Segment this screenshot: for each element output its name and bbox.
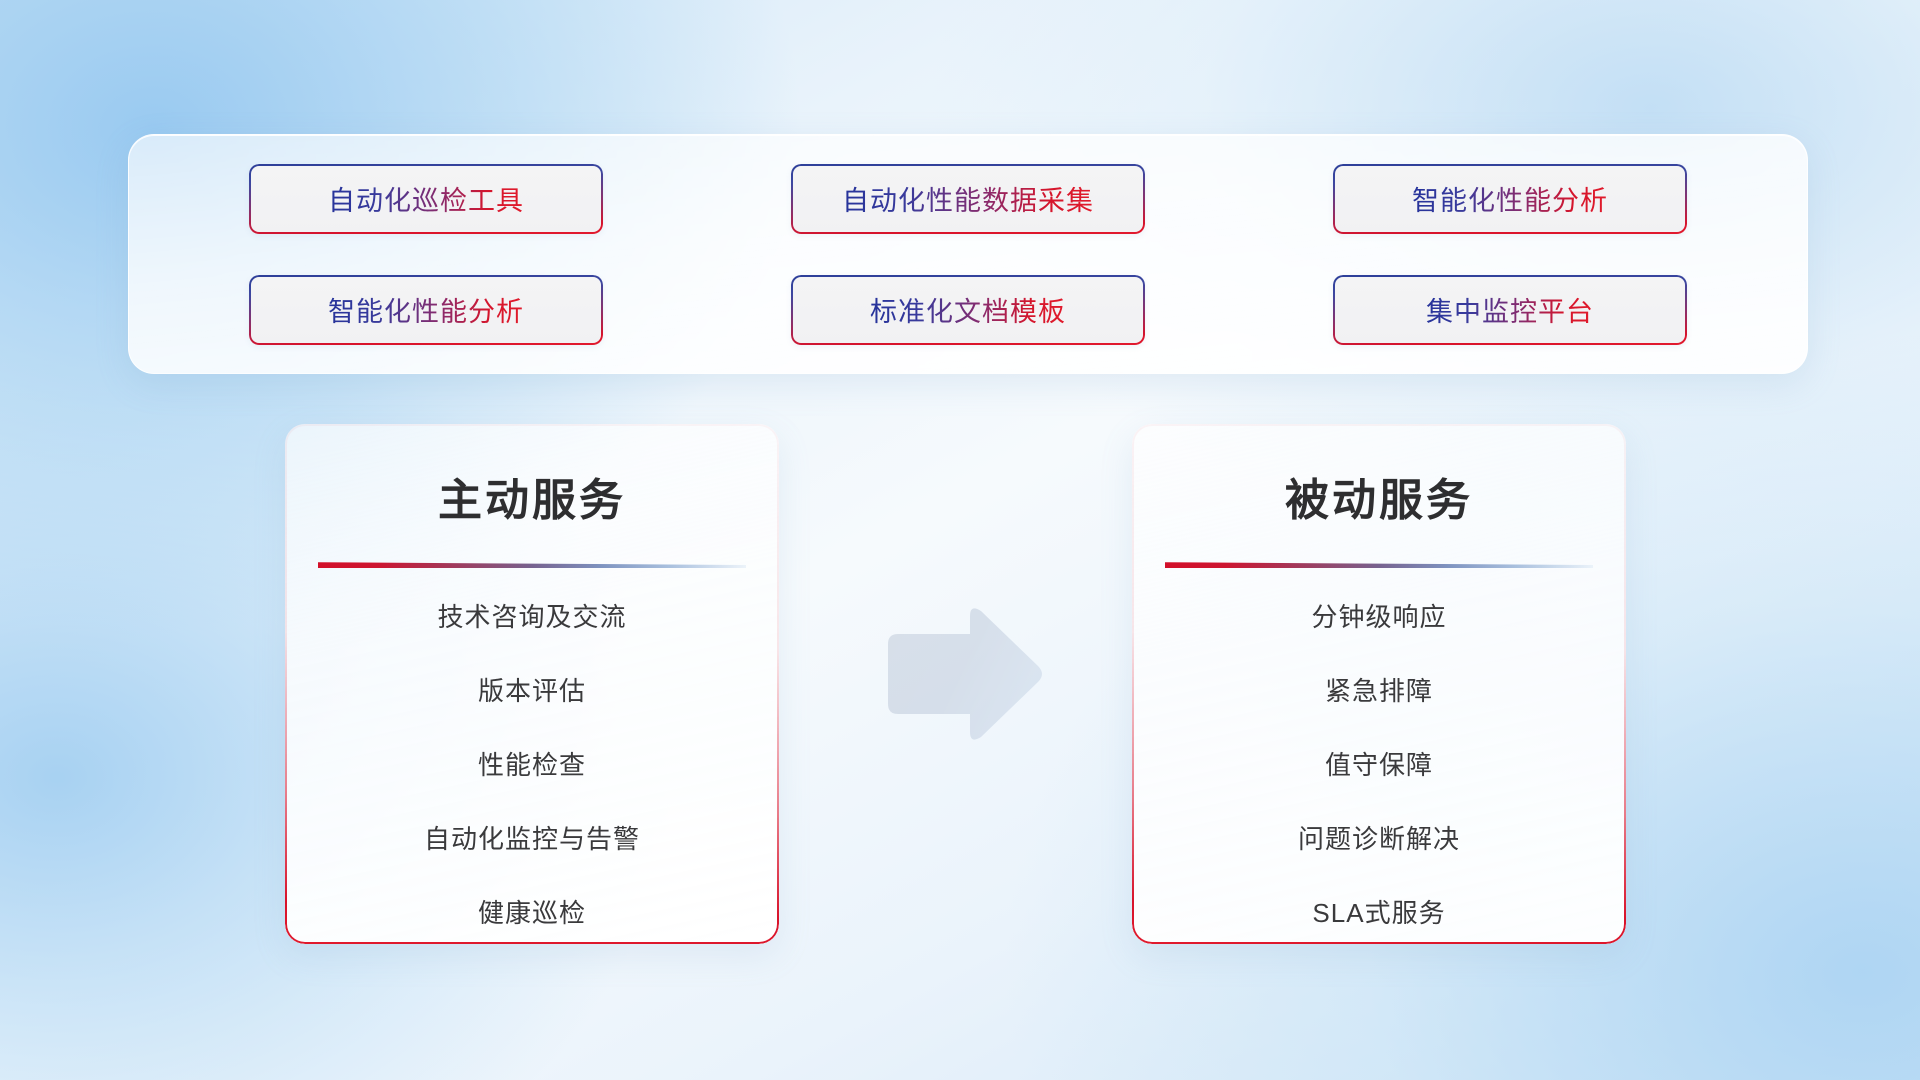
list-item: 性能检查 <box>285 752 779 778</box>
list-item: 值守保障 <box>1132 752 1626 778</box>
capability-tag-label: 标准化文档模板 <box>870 290 1066 329</box>
card-passive-divider <box>1165 558 1593 570</box>
capability-tag-1[interactable]: 自动化巡检工具 <box>249 164 603 234</box>
capability-tag-label: 智能化性能分析 <box>328 290 524 329</box>
capability-tag-label: 自动化性能数据采集 <box>842 179 1094 218</box>
capability-tag-6[interactable]: 集中监控平台 <box>1333 275 1687 345</box>
list-item: 版本评估 <box>285 678 779 704</box>
capability-tag-label: 自动化巡检工具 <box>328 179 524 218</box>
capability-tag-3[interactable]: 智能化性能分析 <box>1333 164 1687 234</box>
list-item: 技术咨询及交流 <box>285 604 779 630</box>
capability-tag-4[interactable]: 智能化性能分析 <box>249 275 603 345</box>
card-active-divider <box>318 558 746 570</box>
card-active-service[interactable]: 主动服务 技术咨询及交流 版本评估 性能检查 自动化监控与告警 健康巡检 <box>285 424 779 944</box>
card-active-title: 主动服务 <box>285 464 779 528</box>
capability-tag-2[interactable]: 自动化性能数据采集 <box>791 164 1145 234</box>
list-item: SLA式服务 <box>1132 900 1626 926</box>
list-item: 分钟级响应 <box>1132 604 1626 630</box>
divider-bar <box>1165 560 1593 568</box>
capability-tag-label: 集中监控平台 <box>1426 290 1594 329</box>
list-item: 问题诊断解决 <box>1132 826 1626 852</box>
list-item: 自动化监控与告警 <box>285 826 779 852</box>
card-active-list: 技术咨询及交流 版本评估 性能检查 自动化监控与告警 健康巡检 <box>285 604 779 926</box>
capability-tag-panel: 自动化巡检工具 自动化性能数据采集 智能化性能分析 智能化性能分析 标准化文档模… <box>128 134 1808 374</box>
card-passive-list: 分钟级响应 紧急排障 值守保障 问题诊断解决 SLA式服务 <box>1132 604 1626 926</box>
divider-bar <box>318 560 746 568</box>
card-passive-service[interactable]: 被动服务 分钟级响应 紧急排障 值守保障 问题诊断解决 SLA式服务 <box>1132 424 1626 944</box>
card-passive-title: 被动服务 <box>1132 464 1626 528</box>
list-item: 紧急排障 <box>1132 678 1626 704</box>
arrow-right-icon <box>878 604 1044 744</box>
slide-canvas: 自动化巡检工具 自动化性能数据采集 智能化性能分析 智能化性能分析 标准化文档模… <box>0 0 1920 1080</box>
capability-tag-label: 智能化性能分析 <box>1412 179 1608 218</box>
list-item: 健康巡检 <box>285 900 779 926</box>
capability-tag-5[interactable]: 标准化文档模板 <box>791 275 1145 345</box>
